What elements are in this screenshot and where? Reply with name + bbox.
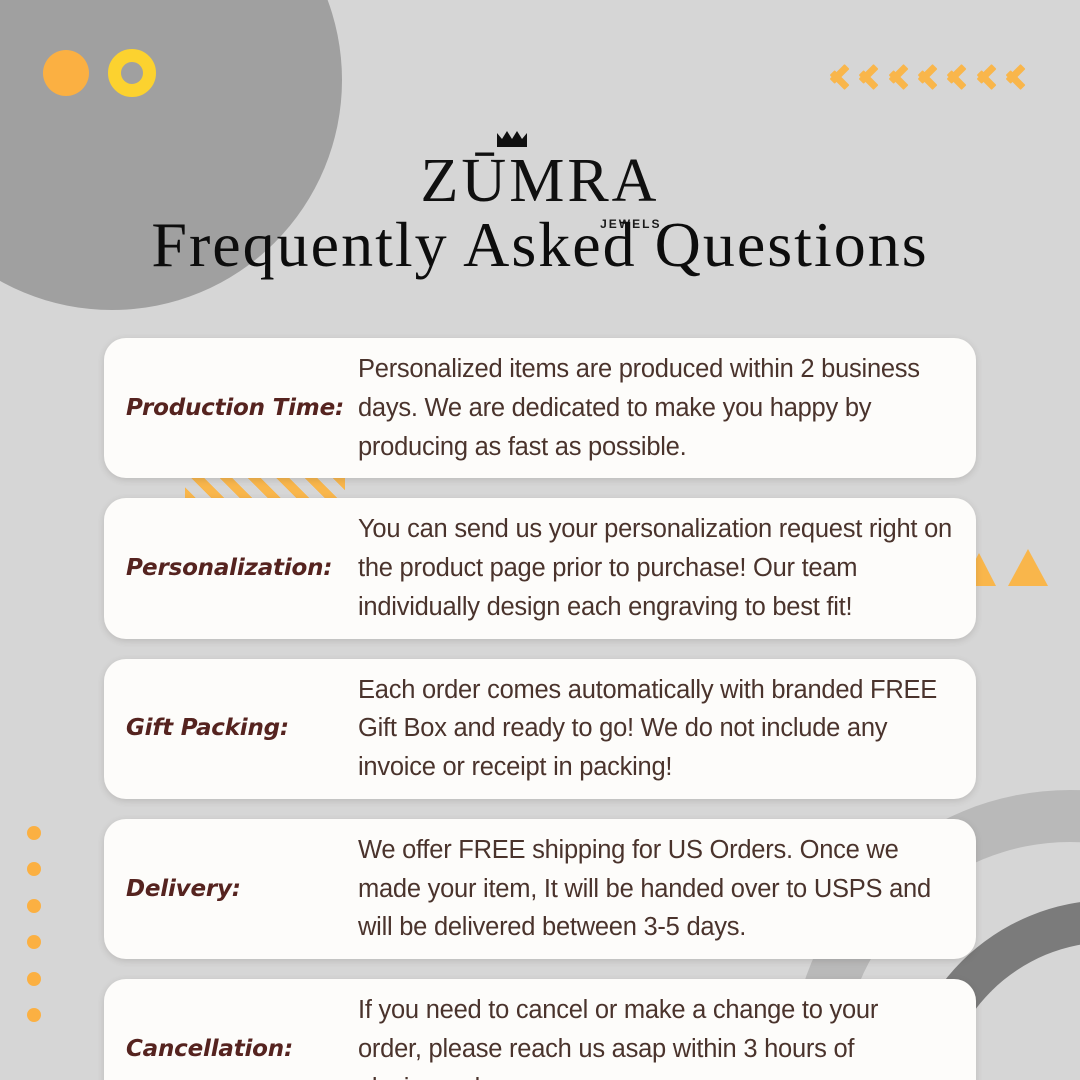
page-title: Frequently Asked Questions [0,208,1080,282]
faq-item[interactable]: Delivery: We offer FREE shipping for US … [104,819,976,959]
faq-list: Production Time: Personalized items are … [104,338,976,1080]
faq-item-label: Cancellation: [126,1036,358,1062]
yellow-ring-decoration [108,49,156,97]
dot-icon [27,972,41,986]
faq-poster: ZŪMRA JEWELS Frequently Asked Questions … [0,0,1080,1080]
faq-item-answer: If you need to cancel or make a change t… [358,991,930,1080]
faq-item-answer: Personalized items are produced within 2… [358,350,962,466]
orange-dot-decoration [43,50,89,96]
chevron-left-icon [1021,55,1040,93]
faq-item-label: Delivery: [126,876,358,902]
brand-logo: ZŪMRA JEWELS [0,150,1080,212]
faq-item[interactable]: Gift Packing: Each order comes automatic… [104,659,976,799]
crown-icon [495,129,529,149]
dot-icon [27,899,41,913]
triangle-decoration-large [1008,549,1048,586]
brand-wordmark-wrapper: ZŪMRA JEWELS [421,150,660,212]
brand-name: ZŪMRA [421,147,660,215]
dot-icon [27,1008,41,1022]
dot-icon [27,826,41,840]
chevron-row-decoration [845,48,1040,100]
faq-item[interactable]: Production Time: Personalized items are … [104,338,976,478]
faq-item-answer: Each order comes automatically with bran… [358,671,962,787]
dot-column-decoration [26,826,42,1022]
faq-item-label: Production Time: [126,395,358,421]
faq-item-answer: We offer FREE shipping for US Orders. On… [358,831,938,947]
faq-item[interactable]: Personalization: You can send us your pe… [104,498,976,638]
faq-item-label: Personalization: [126,555,358,581]
dot-icon [27,935,41,949]
faq-item[interactable]: Cancellation: If you need to cancel or m… [104,979,976,1080]
faq-item-answer: You can send us your personalization req… [358,510,962,626]
faq-item-label: Gift Packing: [126,715,358,741]
dot-icon [27,862,41,876]
